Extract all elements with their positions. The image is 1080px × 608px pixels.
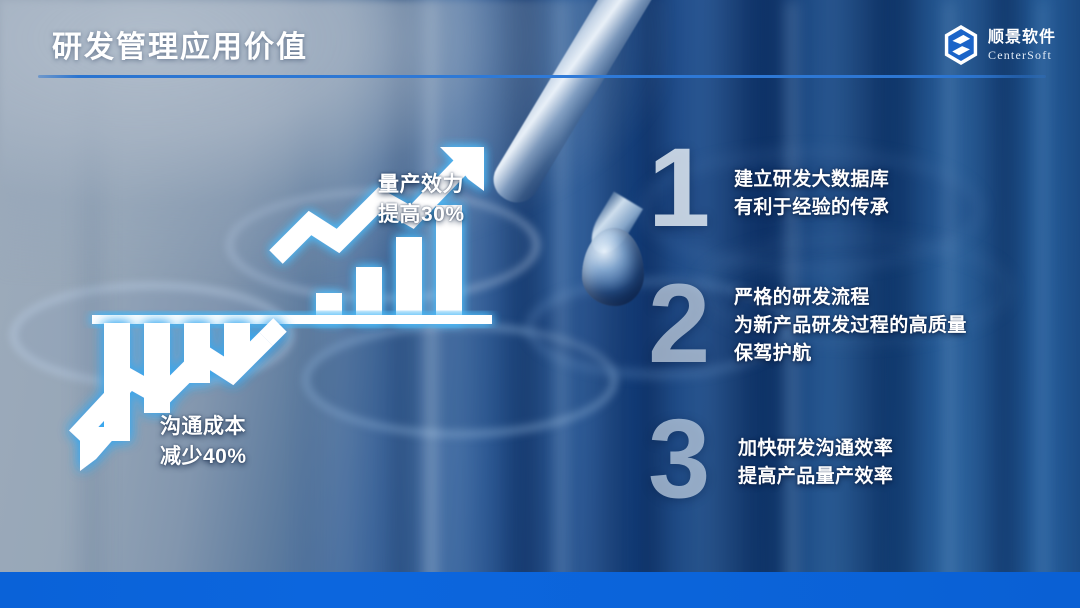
callout-line-1: 量产效力 xyxy=(378,170,465,200)
item-number-1: 1 xyxy=(648,142,722,234)
brand-name-en: CenterSoft xyxy=(988,49,1056,61)
brand-logo-text: 顺景软件 CenterSoft xyxy=(988,30,1056,61)
item-text-2: 严格的研发流程 为新产品研发过程的高质量 保驾护航 xyxy=(734,278,967,368)
item-text-line: 为新产品研发过程的高质量 xyxy=(734,312,967,340)
item-text-line: 加快研发沟通效率 xyxy=(738,435,893,463)
trend-arrows-graphic xyxy=(80,175,600,475)
item-text-1: 建立研发大数据库 有利于经验的传承 xyxy=(734,142,889,222)
callout-production-efficiency: 量产效力 提高30% xyxy=(378,170,465,231)
chart-baseline xyxy=(92,315,492,324)
value-item-1: 1 建立研发大数据库 有利于经验的传承 xyxy=(648,142,889,234)
brand-logo[interactable]: 顺景软件 CenterSoft xyxy=(942,24,1056,66)
item-text-line: 提高产品量产效率 xyxy=(738,463,893,491)
centersoft-hexagon-logo-icon xyxy=(942,24,980,66)
item-number-2: 2 xyxy=(648,278,722,370)
item-number-3: 3 xyxy=(648,413,722,505)
item-text-line: 建立研发大数据库 xyxy=(734,166,889,194)
page-title: 研发管理应用价值 xyxy=(52,22,308,66)
item-text-line: 保驾护航 xyxy=(734,340,967,368)
value-item-3: 3 加快研发沟通效率 提高产品量产效率 xyxy=(648,413,893,505)
item-text-line: 有利于经验的传承 xyxy=(734,194,889,222)
callout-line-1: 沟通成本 xyxy=(160,412,247,442)
bottom-accent-bar xyxy=(0,572,1080,608)
brand-name-cn: 顺景软件 xyxy=(988,30,1056,46)
value-item-2: 2 严格的研发流程 为新产品研发过程的高质量 保驾护航 xyxy=(648,278,967,370)
item-text-3: 加快研发沟通效率 提高产品量产效率 xyxy=(738,413,893,491)
presentation-slide: 研发管理应用价值 顺景软件 CenterSoft xyxy=(0,0,1080,608)
item-text-line: 严格的研发流程 xyxy=(734,284,967,312)
callout-line-2: 提高30% xyxy=(378,200,465,230)
callout-line-2: 减少40% xyxy=(160,442,247,472)
callout-communication-cost: 沟通成本 减少40% xyxy=(160,412,247,473)
title-underline-divider xyxy=(38,75,1046,78)
